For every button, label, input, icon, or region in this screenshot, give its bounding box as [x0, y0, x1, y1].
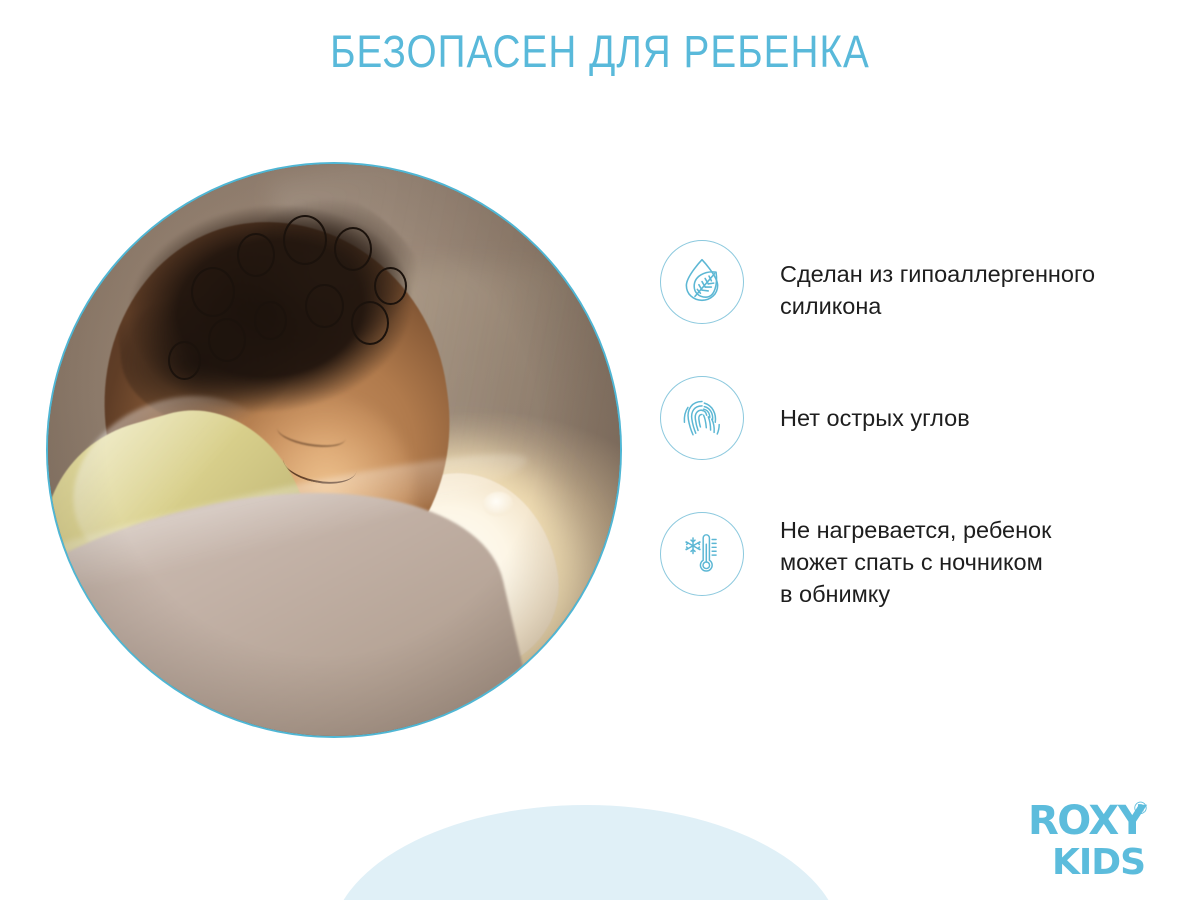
brand-logo: ROXY ® KIDS	[1028, 796, 1160, 882]
page-title: БЕЗОПАСЕН ДЛЯ РЕБЕНКА	[84, 26, 1116, 78]
feature-item: Сделан из гипоаллергенного силикона	[660, 240, 1180, 324]
feature-icon-circle	[660, 512, 744, 596]
logo-kids: KIDS	[1052, 842, 1145, 882]
snowflake-thermometer-icon	[677, 527, 727, 582]
feature-item: Не нагревается, ребенок может спать с но…	[660, 512, 1180, 610]
feature-icon-circle	[660, 240, 744, 324]
logo-trademark: ®	[1132, 799, 1149, 819]
photo-inner	[48, 164, 620, 736]
photo-vignette	[48, 164, 620, 736]
feature-label: Сделан из гипоаллергенного силикона	[780, 240, 1095, 322]
feature-label: Нет острых углов	[780, 376, 970, 434]
droplet-leaf-icon	[677, 255, 727, 310]
feature-list: Сделан из гипоаллергенного силикона	[660, 240, 1180, 662]
feature-label: Не нагревается, ребенок может спать с но…	[780, 512, 1051, 610]
feature-icon-circle	[660, 376, 744, 460]
logo-roxy: ROXY	[1028, 798, 1148, 844]
product-photo	[48, 164, 620, 736]
promo-slide: БЕЗОПАСЕН ДЛЯ РЕБЕНКА	[0, 0, 1200, 900]
bottom-decorative-ellipse	[330, 805, 842, 900]
feature-item: Нет острых углов	[660, 376, 1180, 460]
fingerprint-icon	[677, 391, 727, 446]
